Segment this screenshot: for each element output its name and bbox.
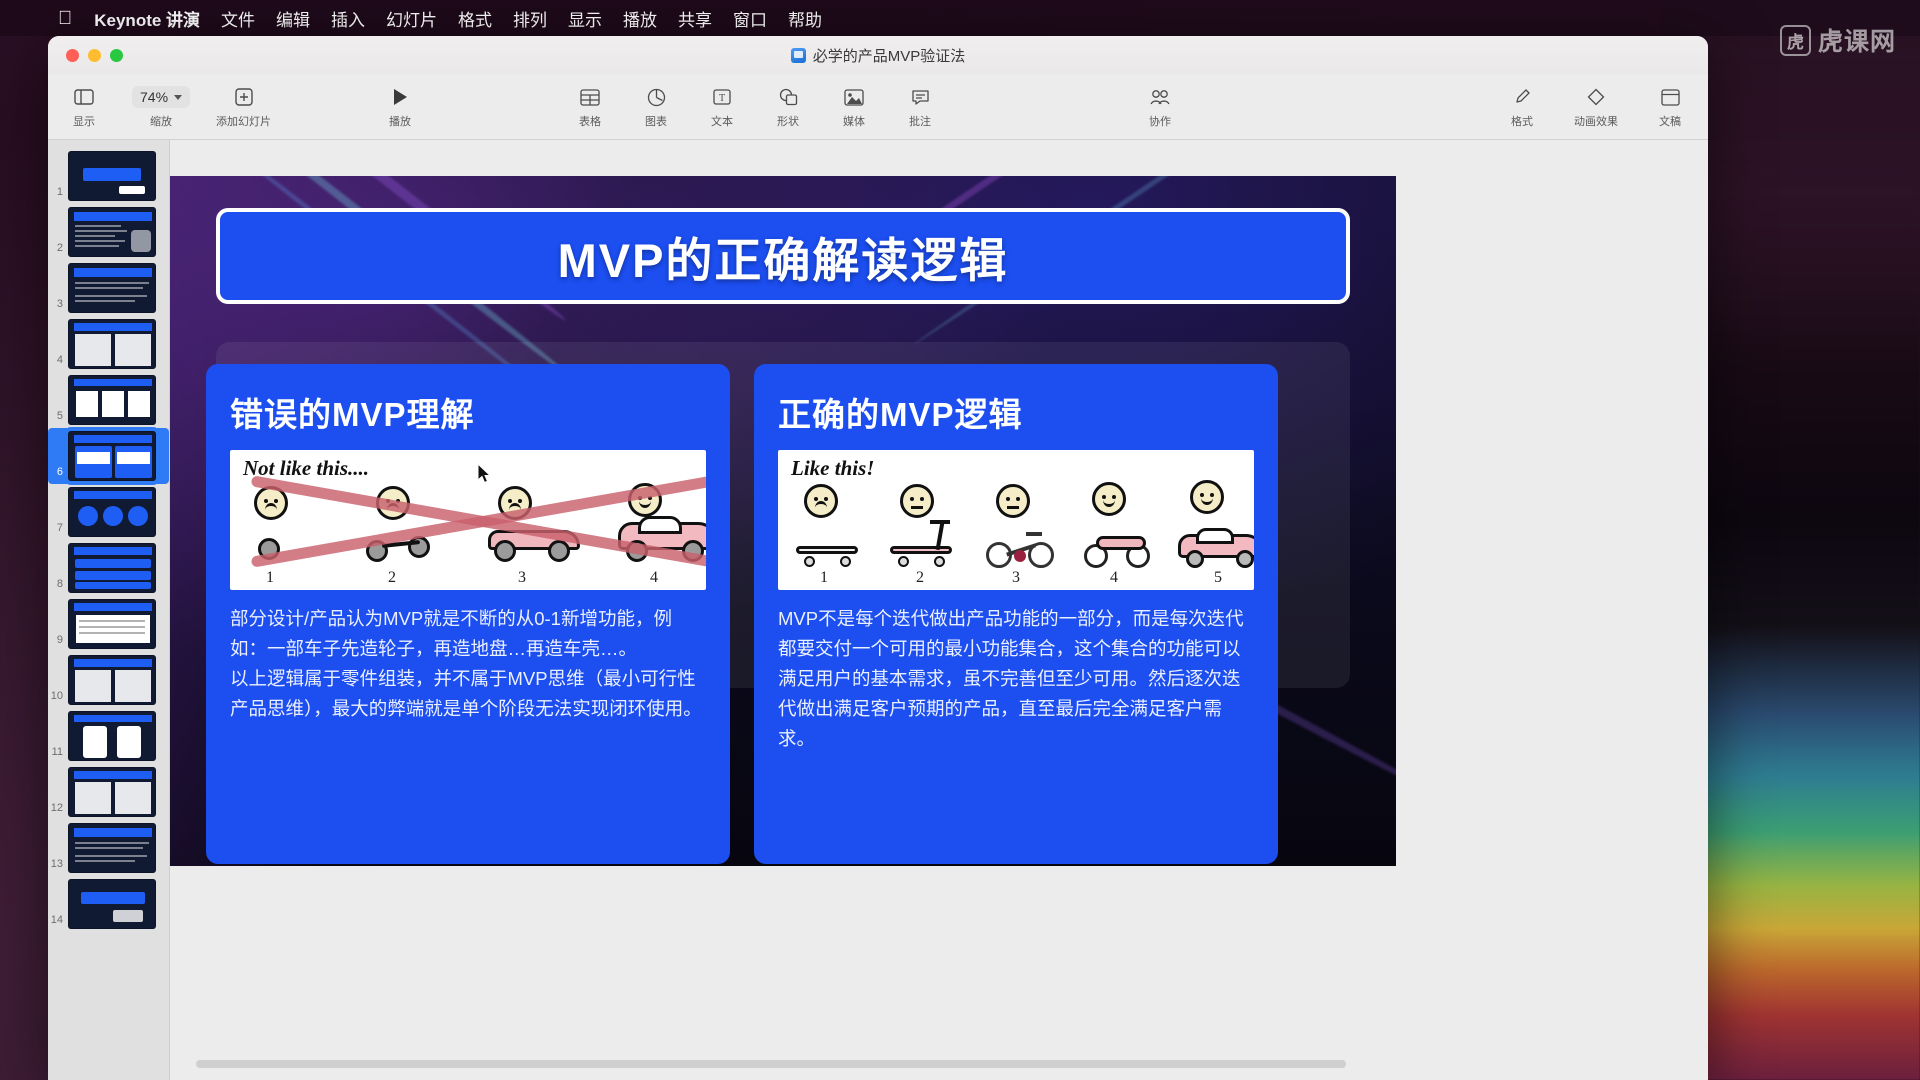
slide-content: MVP的正确解读逻辑 错误的MVP理解 Not like this.... [170, 176, 1396, 866]
slide-canvas[interactable]: MVP的正确解读逻辑 错误的MVP理解 Not like this.... [170, 176, 1396, 866]
document-title-text: 必学的产品MVP验证法 [813, 45, 966, 66]
illustration-like-this: Like this! [778, 450, 1254, 590]
illustration-left-number: 3 [518, 569, 526, 587]
slide-title: MVP的正确解读逻辑 [558, 222, 1009, 291]
toolbar-inspector-group: 格式 动画效果 [1500, 84, 1692, 129]
menu-item-arrange[interactable]: 排列 [513, 6, 547, 31]
neutral-face-icon [996, 484, 1030, 518]
slide-thumbnail-image[interactable] [68, 879, 156, 929]
show-sidebar-button[interactable]: 显示 [62, 84, 106, 129]
zoom-control[interactable]: 74% 缩放 [132, 84, 190, 129]
format-label: 格式 [1511, 113, 1533, 129]
insert-table-button[interactable]: 表格 [568, 84, 612, 129]
slide-thumbnail-7[interactable]: 7 [48, 484, 169, 540]
comment-icon [911, 84, 930, 110]
slight-smile-face-icon [1092, 482, 1126, 516]
slide-thumbnail-8[interactable]: 8 [48, 540, 169, 596]
menu-item-play[interactable]: 播放 [623, 6, 657, 31]
slide-thumbnail-image[interactable] [68, 151, 156, 201]
illustration-right-number: 5 [1214, 569, 1222, 587]
slide-number: 5 [50, 410, 63, 425]
illustration-right-caption: Like this! [791, 456, 874, 481]
format-brush-icon [1513, 84, 1531, 110]
zoom-value-text: 74% [140, 89, 168, 105]
chart-icon [647, 84, 666, 110]
horizontal-scrollbar[interactable] [196, 1060, 1346, 1068]
slide-thumbnail-2[interactable]: 2 [48, 204, 169, 260]
slide-thumbnail-14[interactable]: 14 [48, 876, 169, 932]
happy-face-icon [1190, 480, 1224, 514]
insert-chart-button[interactable]: 图表 [634, 84, 678, 129]
slide-number: 6 [50, 466, 63, 481]
watermark-logo-icon: 虎 [1780, 25, 1811, 56]
slide-thumbnail-4[interactable]: 4 [48, 316, 169, 372]
canvas-bottom-bar [170, 1040, 1708, 1080]
play-button[interactable]: 播放 [378, 84, 422, 129]
neutral-face-icon [900, 484, 934, 518]
slide-thumbnail-11[interactable]: 11 [48, 708, 169, 764]
slide-number: 10 [50, 690, 63, 705]
menu-item-edit[interactable]: 编辑 [276, 6, 310, 31]
sidebar-icon [74, 84, 94, 110]
card-left-paragraph-1: 部分设计/产品认为MVP就是不断的从0-1新增功能，例如：一部车子先造轮子，再造… [230, 604, 706, 664]
slide-number: 11 [50, 746, 63, 761]
insert-media-label: 媒体 [843, 113, 865, 129]
mouse-cursor [478, 464, 494, 486]
slide-thumbnail-9[interactable]: 9 [48, 596, 169, 652]
menu-item-insert[interactable]: 插入 [331, 6, 365, 31]
collaborate-label: 协作 [1149, 113, 1171, 129]
menu-item-share[interactable]: 共享 [678, 6, 712, 31]
menu-bar:  Keynote 讲演 文件 编辑 插入 幻灯片 格式 排列 显示 播放 共享… [0, 0, 1920, 36]
toolbar-insert-group: 表格 图表 [568, 84, 942, 129]
slide-number: 4 [50, 354, 63, 369]
slide-thumbnail-image[interactable] [68, 487, 156, 537]
watermark: 虎 虎课网 [1780, 22, 1896, 58]
document-button[interactable]: 文稿 [1648, 84, 1692, 129]
sad-face-icon [804, 484, 838, 518]
slide-thumbnail-image[interactable] [68, 375, 156, 425]
menu-item-file[interactable]: 文件 [221, 6, 255, 31]
insert-media-button[interactable]: 媒体 [832, 84, 876, 129]
toolbar-collab-group: 协作 [1138, 84, 1182, 129]
car-window-shape [638, 516, 682, 534]
insert-comment-button[interactable]: 批注 [898, 84, 942, 129]
card-right-heading: 正确的MVP逻辑 [778, 388, 1254, 436]
slide-thumbnail-image[interactable] [68, 431, 156, 481]
slide-number: 2 [50, 242, 63, 257]
slide-title-banner[interactable]: MVP的正确解读逻辑 [216, 208, 1350, 304]
format-button[interactable]: 格式 [1500, 84, 1544, 129]
play-label: 播放 [389, 113, 411, 129]
wheel-icon [548, 540, 570, 562]
toolbar-view-group: 显示 74% 缩放 [62, 84, 271, 129]
slide-thumbnail-12[interactable]: 12 [48, 764, 169, 820]
toolbar-play-group: 播放 [378, 84, 422, 129]
slide-canvas-area: MVP的正确解读逻辑 错误的MVP理解 Not like this.... [170, 140, 1708, 1080]
animate-button[interactable]: 动画效果 [1574, 84, 1618, 129]
slide-thumbnail-image[interactable] [68, 543, 156, 593]
insert-shape-button[interactable]: 形状 [766, 84, 810, 129]
screen:  Keynote 讲演 文件 编辑 插入 幻灯片 格式 排列 显示 播放 共享… [0, 0, 1920, 1080]
menu-item-window[interactable]: 窗口 [733, 6, 767, 31]
table-icon [580, 84, 600, 110]
document-label: 文稿 [1659, 113, 1681, 129]
wheel-icon [494, 540, 516, 562]
illustration-right-number: 4 [1110, 569, 1118, 587]
insert-shape-label: 形状 [777, 113, 799, 129]
shape-icon [779, 84, 798, 110]
slide-number: 3 [50, 298, 63, 313]
skateboard-icon [796, 546, 858, 554]
window-title-bar: 必学的产品MVP验证法 [48, 36, 1708, 74]
slide-thumbnail-5[interactable]: 5 [48, 372, 169, 428]
slide-thumbnail-image[interactable] [68, 599, 156, 649]
media-icon [844, 84, 864, 110]
slide-number: 1 [50, 186, 63, 201]
slide-thumbnail-image[interactable] [68, 711, 156, 761]
illustration-not-like-this: Not like this.... [230, 450, 706, 590]
slide-thumbnail-image[interactable] [68, 207, 156, 257]
slide-number: 9 [50, 634, 63, 649]
slide-thumbnail-13[interactable]: 13 [48, 820, 169, 876]
animate-icon [1587, 84, 1605, 110]
menu-item-keynote[interactable]: Keynote 讲演 [94, 6, 200, 31]
svg-text:T: T [719, 93, 725, 104]
show-sidebar-label: 显示 [73, 113, 95, 129]
card-correct-mvp[interactable]: 正确的MVP逻辑 Like this! [754, 364, 1278, 864]
document-title: 必学的产品MVP验证法 [48, 45, 1708, 66]
card-wrong-mvp[interactable]: 错误的MVP理解 Not like this.... [206, 364, 730, 864]
slide-number: 7 [50, 522, 63, 537]
chevron-down-icon [174, 95, 182, 100]
insert-text-label: 文本 [711, 113, 733, 129]
insert-text-button[interactable]: T 文本 [700, 84, 744, 129]
menu-item-format[interactable]: 格式 [458, 6, 492, 31]
scooter-icon [890, 546, 952, 554]
slide-thumbnail-image[interactable] [68, 319, 156, 369]
slide-thumbnail-6[interactable]: 6 [48, 428, 169, 484]
slide-thumbnail-image[interactable] [68, 263, 156, 313]
slide-thumbnail-image[interactable] [68, 823, 156, 873]
slide-number: 14 [50, 914, 63, 929]
menu-item-help[interactable]: 帮助 [788, 6, 822, 31]
document-icon [1661, 84, 1680, 110]
slide-number: 8 [50, 578, 63, 593]
slide-number: 12 [50, 802, 63, 817]
insert-chart-label: 图表 [645, 113, 667, 129]
insert-comment-label: 批注 [909, 113, 931, 129]
card-right-paragraph-1: MVP不是每个迭代做出产品功能的一部分，而是每次迭代都要交付一个可用的最小功能集… [778, 604, 1254, 754]
slide-thumbnail-1[interactable]: 1 [48, 148, 169, 204]
text-icon: T [713, 84, 731, 110]
card-left-paragraph-2: 以上逻辑属于零件组装，并不属于MVP思维（最小可行性产品思维），最大的弊端就是单… [230, 664, 706, 724]
slide-thumbnail-3[interactable]: 3 [48, 260, 169, 316]
insert-table-label: 表格 [579, 113, 601, 129]
play-icon [392, 84, 408, 110]
illustration-right-number: 1 [820, 569, 828, 587]
toolbar: 显示 74% 缩放 [48, 74, 1708, 140]
illustration-left-number: 2 [388, 569, 396, 587]
watermark-text: 虎课网 [1818, 22, 1896, 58]
card-left-heading: 错误的MVP理解 [230, 388, 706, 436]
keynote-window: 必学的产品MVP验证法 显示 [48, 36, 1708, 1080]
illustration-right-number: 2 [916, 569, 924, 587]
add-slide-button[interactable]: 添加幻灯片 [216, 84, 271, 129]
menu-item-view[interactable]: 显示 [568, 6, 602, 31]
apple-icon[interactable]:  [58, 9, 72, 28]
collaborate-icon [1149, 84, 1171, 110]
slide-number: 13 [50, 858, 63, 873]
slide-thumbnail-10[interactable]: 10 [48, 652, 169, 708]
zoom-value-box[interactable]: 74% [132, 84, 190, 110]
keynote-document-icon [791, 48, 806, 63]
zoom-label: 缩放 [150, 113, 172, 129]
slide-navigator[interactable]: 1234567891011121314 [48, 140, 170, 1080]
collaborate-button[interactable]: 协作 [1138, 84, 1182, 129]
window-body: 1234567891011121314 MVP的正确解读逻 [48, 140, 1708, 1080]
add-slide-icon [235, 84, 253, 110]
illustration-left-number: 1 [266, 569, 274, 587]
slide-thumbnail-image[interactable] [68, 655, 156, 705]
illustration-right-number: 3 [1012, 569, 1020, 587]
slide-thumbnail-image[interactable] [68, 767, 156, 817]
add-slide-label: 添加幻灯片 [216, 113, 271, 129]
illustration-left-number: 4 [650, 569, 658, 587]
animate-label: 动画效果 [1574, 113, 1618, 129]
menu-item-slide[interactable]: 幻灯片 [386, 6, 437, 31]
